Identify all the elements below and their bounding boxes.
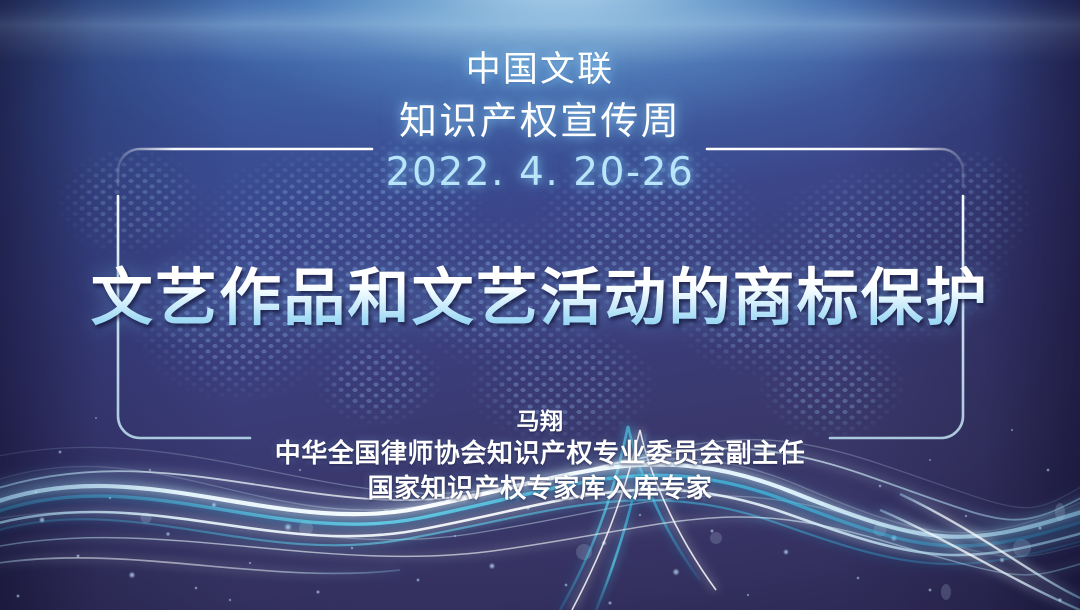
date-range: 2022. 4. 20-26 — [0, 150, 1080, 196]
page-title: 文艺作品和文艺活动的商标保护 — [0, 262, 1080, 336]
speaker-name: 马翔 — [0, 406, 1080, 436]
speaker-title-primary: 中华全国律师协会知识产权专业委员会副主任 — [0, 436, 1080, 471]
slide-content: 中国文联 知识产权宣传周 2022. 4. 20-26 文艺作品和文艺活动的商标… — [0, 0, 1080, 610]
speaker-title-secondary: 国家知识产权专家库入库专家 — [0, 471, 1080, 506]
organization-title: 中国文联 — [0, 50, 1080, 90]
event-title: 知识产权宣传周 — [0, 100, 1080, 144]
presentation-slide: 中国文联 知识产权宣传周 2022. 4. 20-26 文艺作品和文艺活动的商标… — [0, 0, 1080, 610]
speaker-block: 马翔 中华全国律师协会知识产权专业委员会副主任 国家知识产权专家库入库专家 — [0, 406, 1080, 506]
